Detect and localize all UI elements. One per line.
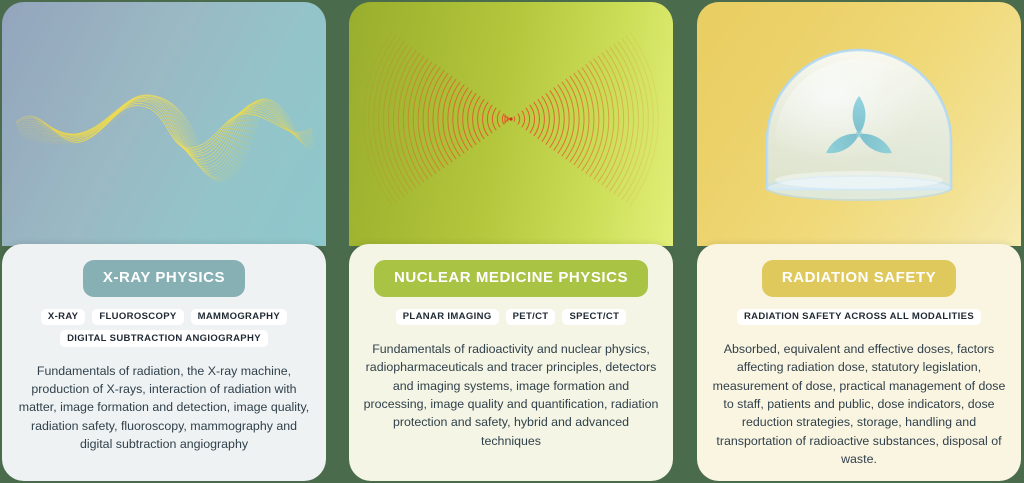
card-radiation-safety[interactable]: RADIATION SAFETY RADIATION SAFETY ACROSS… — [697, 2, 1021, 481]
tag-pill[interactable]: RADIATION SAFETY ACROSS ALL MODALITIES — [737, 309, 981, 326]
card-hero-image-x-ray-physics — [2, 2, 326, 246]
card-description: Fundamentals of radiation, the X-ray mac… — [16, 362, 312, 454]
dome-shield-trefoil-icon — [697, 2, 1021, 246]
tag-pill[interactable]: MAMMOGRAPHY — [191, 309, 288, 326]
card-content-panel-radiation-safety: RADIATION SAFETY RADIATION SAFETY ACROSS… — [697, 244, 1021, 481]
card-title-badge: RADIATION SAFETY — [762, 260, 956, 297]
card-content-panel-nuclear-medicine-physics: NUCLEAR MEDICINE PHYSICS PLANAR IMAGING … — [349, 244, 673, 481]
card-tag-list: X-RAY FLUOROSCOPY MAMMOGRAPHY DIGITAL SU… — [19, 309, 309, 347]
tag-pill[interactable]: FLUOROSCOPY — [92, 309, 183, 326]
card-description: Fundamentals of radioactivity and nuclea… — [363, 340, 659, 450]
tag-pill[interactable]: PET/CT — [506, 309, 556, 326]
card-title-badge: X-RAY PHYSICS — [83, 260, 245, 297]
tag-pill[interactable]: DIGITAL SUBTRACTION ANGIOGRAPHY — [60, 330, 268, 347]
card-title-badge: NUCLEAR MEDICINE PHYSICS — [374, 260, 648, 297]
tag-pill[interactable]: PLANAR IMAGING — [396, 309, 499, 326]
card-hero-image-nuclear-medicine-physics — [349, 2, 673, 246]
yellow-waveform-icon — [2, 2, 326, 246]
card-x-ray-physics[interactable]: X-RAY PHYSICS X-RAY FLUOROSCOPY MAMMOGRA… — [2, 2, 326, 481]
cards-board: X-RAY PHYSICS X-RAY FLUOROSCOPY MAMMOGRA… — [0, 0, 1024, 483]
card-tag-list: PLANAR IMAGING PET/CT SPECT/CT — [396, 309, 627, 326]
card-nuclear-medicine-physics[interactable]: NUCLEAR MEDICINE PHYSICS PLANAR IMAGING … — [349, 2, 673, 481]
card-content-panel-x-ray-physics: X-RAY PHYSICS X-RAY FLUOROSCOPY MAMMOGRA… — [2, 244, 326, 481]
tag-pill[interactable]: SPECT/CT — [562, 309, 626, 326]
radiation-bowtie-icon — [349, 2, 673, 246]
card-tag-list: RADIATION SAFETY ACROSS ALL MODALITIES — [737, 309, 981, 326]
card-description: Absorbed, equivalent and effective doses… — [711, 340, 1007, 469]
card-hero-image-radiation-safety — [697, 2, 1021, 246]
tag-pill[interactable]: X-RAY — [41, 309, 85, 326]
